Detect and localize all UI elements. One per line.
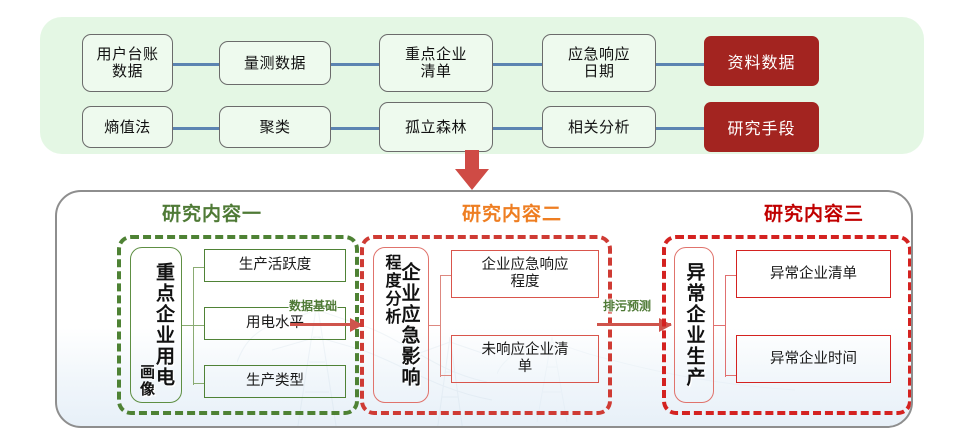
section-title-1: 研究内容一 — [162, 199, 262, 226]
section-1-leaf-3[interactable]: 生产类型 — [204, 365, 346, 398]
node-key-enterprise-list[interactable]: 重点企业 清单 — [379, 34, 493, 92]
node-label: 相关分析 — [568, 119, 630, 136]
node-measurement-data[interactable]: 量测数据 — [219, 41, 331, 85]
data-and-methods-panel: 用户台账 数据 量测数据 重点企业 清单 应急响应 日期 资料数据 熵值法 聚类… — [40, 17, 924, 154]
section-2-bracket — [429, 275, 451, 377]
section-3-bracket — [714, 275, 736, 377]
flow-label-1: 数据基础 — [289, 297, 337, 314]
node-label: 孤立森林 — [405, 119, 467, 136]
node-user-ledger-data[interactable]: 用户台账 数据 — [82, 34, 173, 92]
section-2-main-label: 企业应急影响 — [400, 262, 419, 388]
node-isolation-forest[interactable]: 孤立森林 — [379, 102, 493, 152]
node-label: 聚类 — [259, 119, 290, 136]
section-2-main-sublabel: 程度分析 — [384, 248, 400, 326]
connector-row1-4 — [656, 63, 704, 66]
leaf-label: 生产活跃度 — [239, 257, 312, 274]
node-label: 熵值法 — [104, 119, 151, 136]
section-title-2: 研究内容二 — [462, 199, 562, 226]
connector-row1-3 — [493, 63, 542, 66]
section-2-leaf-2[interactable]: 未响应企业清 单 — [451, 335, 599, 383]
section-2-main-box[interactable]: 企业应急影响 程度分析 — [373, 247, 429, 403]
connector-row2-1 — [173, 127, 219, 130]
leaf-label: 异常企业时间 — [770, 351, 857, 368]
section-3-leaf-1[interactable]: 异常企业清单 — [736, 250, 891, 298]
leaf-label: 生产类型 — [246, 373, 304, 390]
node-label: 重点企业 清单 — [405, 46, 467, 80]
research-contents-panel: 研究内容一 重点企业用电 画像 生产活跃度 用电水平 生产类型 数据基础 研究内… — [55, 190, 913, 428]
node-label: 研究手段 — [727, 115, 795, 139]
flow-arrow-2 — [597, 323, 671, 326]
node-label: 用户台账 数据 — [96, 46, 158, 80]
node-clustering[interactable]: 聚类 — [219, 106, 331, 148]
leaf-label: 企业应急响应 程度 — [482, 257, 569, 290]
flow-arrow-1 — [290, 323, 362, 326]
flow-label-2: 排污预测 — [603, 297, 651, 314]
node-correlation-analysis[interactable]: 相关分析 — [542, 106, 656, 148]
node-result-research-methods[interactable]: 研究手段 — [704, 102, 819, 152]
connector-row2-3 — [493, 127, 542, 130]
section-1-main-label: 重点企业用电 — [154, 262, 173, 388]
node-emergency-response-date[interactable]: 应急响应 日期 — [542, 34, 656, 92]
section-title-3: 研究内容三 — [764, 199, 864, 226]
connector-row2-4 — [656, 127, 704, 130]
section-2-leaf-1[interactable]: 企业应急响应 程度 — [451, 250, 599, 298]
section-1-main-box[interactable]: 重点企业用电 画像 — [130, 247, 182, 403]
node-label: 应急响应 日期 — [568, 46, 630, 80]
connector-row2-2 — [331, 127, 379, 130]
node-entropy-method[interactable]: 熵值法 — [82, 106, 173, 148]
node-label: 量测数据 — [244, 55, 306, 72]
leaf-label: 未响应企业清 单 — [482, 342, 569, 375]
section-1-leaf-1[interactable]: 生产活跃度 — [204, 249, 346, 282]
leaf-label: 异常企业清单 — [770, 266, 857, 283]
section-1-main-sublabel: 画像 — [139, 364, 154, 402]
connector-row1-1 — [173, 63, 219, 66]
node-result-source-data[interactable]: 资料数据 — [704, 36, 819, 86]
section-3-main-box[interactable]: 异常企业生产 — [674, 247, 714, 403]
down-arrow-icon — [455, 150, 489, 190]
connector-row1-2 — [331, 63, 379, 66]
diagram-root: 用户台账 数据 量测数据 重点企业 清单 应急响应 日期 资料数据 熵值法 聚类… — [0, 0, 964, 443]
section-3-main-label: 异常企业生产 — [685, 262, 704, 388]
section-3-leaf-2[interactable]: 异常企业时间 — [736, 335, 891, 383]
section-1-bracket — [182, 267, 204, 384]
node-label: 资料数据 — [727, 49, 795, 73]
